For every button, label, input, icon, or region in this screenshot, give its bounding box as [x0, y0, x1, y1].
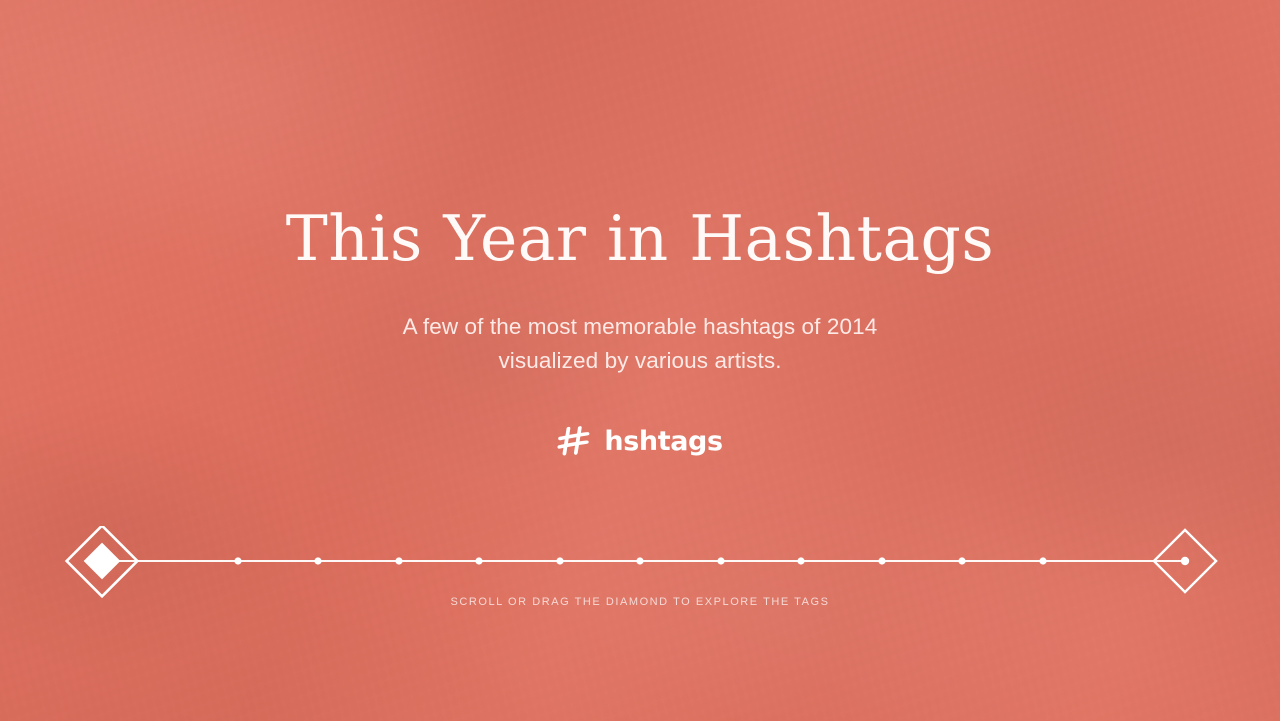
- page-title: This Year in Hashtags: [0, 207, 1280, 270]
- page-subtitle: A few of the most memorable hashtags of …: [0, 310, 1280, 378]
- subtitle-line-1: A few of the most memorable hashtags of …: [0, 310, 1280, 344]
- subtitle-line-2: visualized by various artists.: [0, 344, 1280, 378]
- site-logo[interactable]: hshtags: [0, 421, 1280, 461]
- logo-wordmark: hshtags: [604, 428, 722, 455]
- timeline-caption: SCROLL OR DRAG THE DIAMOND TO EXPLORE TH…: [0, 596, 1280, 608]
- timeline[interactable]: [0, 526, 1280, 598]
- hash-icon: [557, 423, 591, 459]
